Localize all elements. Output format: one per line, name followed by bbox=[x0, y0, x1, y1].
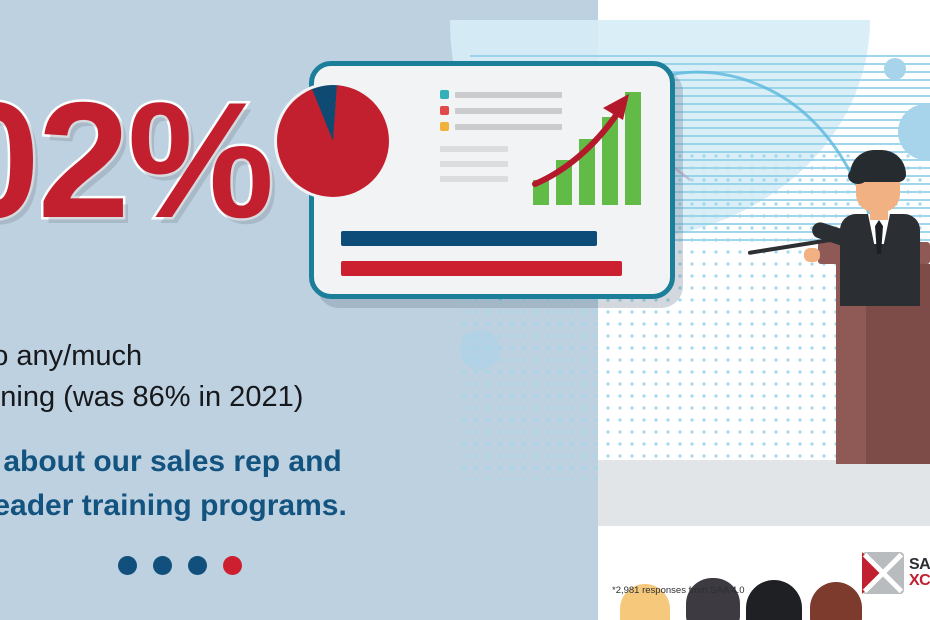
brand-logo: SA XC bbox=[862, 552, 930, 594]
pie-chart bbox=[277, 85, 389, 197]
legend-swatch-teal bbox=[440, 90, 449, 99]
footnote-text: *2,981 responses from SAA 4.0 bbox=[612, 585, 745, 596]
summary-line bbox=[440, 176, 508, 182]
call-to-action: us about our sales rep and s leader trai… bbox=[0, 440, 347, 528]
dot-2 bbox=[153, 556, 172, 575]
dot-4 bbox=[223, 556, 242, 575]
trend-arrow-icon bbox=[533, 92, 653, 212]
infographic-canvas: 02% t do any/much training (was 86% in 2… bbox=[0, 0, 930, 620]
logo-text-top: SA bbox=[909, 557, 930, 573]
bar-chart bbox=[533, 92, 643, 205]
stat-description-line2: training (was 86% in 2021) bbox=[0, 377, 303, 418]
cta-line2: s leader training programs. bbox=[0, 484, 347, 528]
dot-1 bbox=[118, 556, 137, 575]
presenter-hair-side bbox=[848, 168, 868, 184]
x-mark-icon bbox=[862, 552, 904, 594]
audience-group bbox=[500, 300, 870, 560]
logo-wordmark: SA XC bbox=[909, 557, 930, 589]
deco-circle-tiny bbox=[460, 330, 500, 370]
big-stat-number: 02% bbox=[0, 78, 272, 243]
stat-description-line1: t do any/much bbox=[0, 336, 303, 377]
card-summary-lines bbox=[440, 146, 508, 191]
logo-text-bottom: XC bbox=[909, 573, 930, 589]
deco-circle-small bbox=[884, 58, 906, 80]
cta-line1: us about our sales rep and bbox=[0, 440, 347, 484]
summary-line bbox=[440, 146, 508, 152]
decorative-dot-row bbox=[118, 556, 242, 575]
stat-description: t do any/much training (was 86% in 2021) bbox=[0, 336, 303, 418]
legend-swatch-red bbox=[440, 106, 449, 115]
legend-swatch-orange bbox=[440, 122, 449, 131]
card-bar-navy bbox=[341, 231, 597, 246]
presenter-hand bbox=[804, 248, 820, 262]
summary-line bbox=[440, 161, 508, 167]
card-bar-red bbox=[341, 261, 622, 276]
dot-3 bbox=[188, 556, 207, 575]
